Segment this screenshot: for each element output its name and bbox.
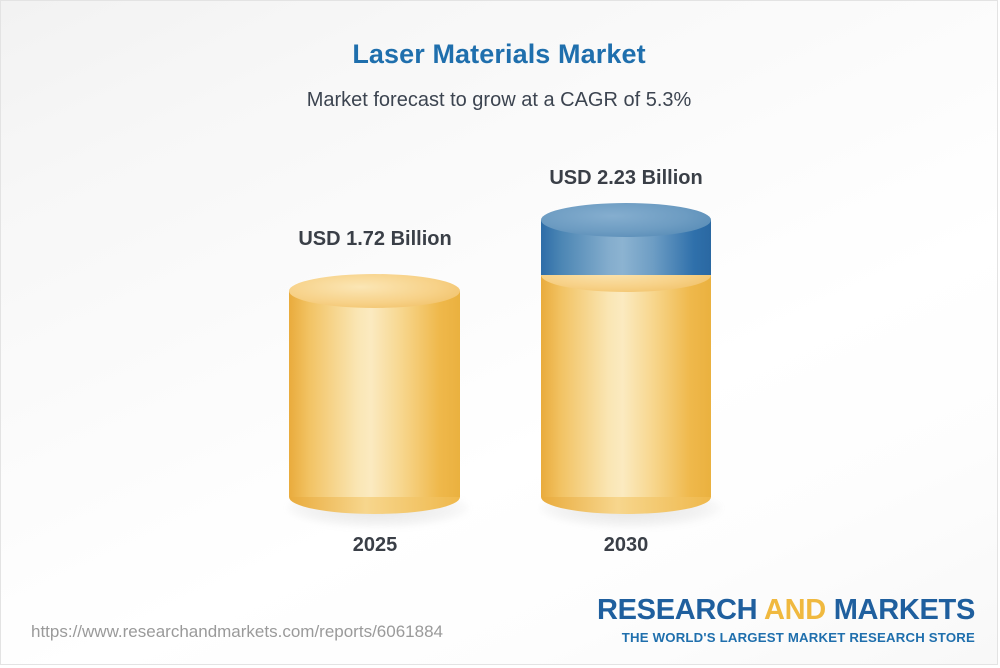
- cylinder-top-cap-2025: [289, 274, 460, 308]
- bar-value-label-2025: USD 1.72 Billion: [245, 228, 505, 251]
- bar-group-2030[interactable]: USD 2.23 Billion 2030: [496, 1, 756, 668]
- logo-and-text: AND: [764, 594, 826, 626]
- cylinder-top-cap-2030: [541, 203, 711, 237]
- cylinder-2025: [289, 274, 460, 514]
- category-label-2025: 2025: [245, 534, 505, 557]
- chart-plot-area: USD 1.72 Billion 2025 USD 2.23 Billion: [1, 1, 997, 664]
- bar-value-label-2030: USD 2.23 Billion: [496, 167, 756, 190]
- logo-wordmark: RESEARCH AND MARKETS: [597, 596, 975, 625]
- chart-card: Laser Materials Market Market forecast t…: [0, 0, 998, 665]
- cylinder-body-yellow-2030: [541, 275, 711, 497]
- logo-markets-text: MARKETS: [834, 594, 975, 626]
- cylinder-body-2025: [289, 291, 460, 497]
- category-label-2030: 2030: [496, 534, 756, 557]
- cylinder-2030: [541, 203, 711, 514]
- logo-research-text: RESEARCH: [597, 594, 757, 626]
- source-url[interactable]: https://www.researchandmarkets.com/repor…: [31, 622, 443, 642]
- bar-group-2025[interactable]: USD 1.72 Billion 2025: [245, 1, 505, 668]
- logo-tagline: THE WORLD'S LARGEST MARKET RESEARCH STOR…: [597, 631, 975, 644]
- brand-logo[interactable]: RESEARCH AND MARKETS THE WORLD'S LARGEST…: [597, 596, 975, 644]
